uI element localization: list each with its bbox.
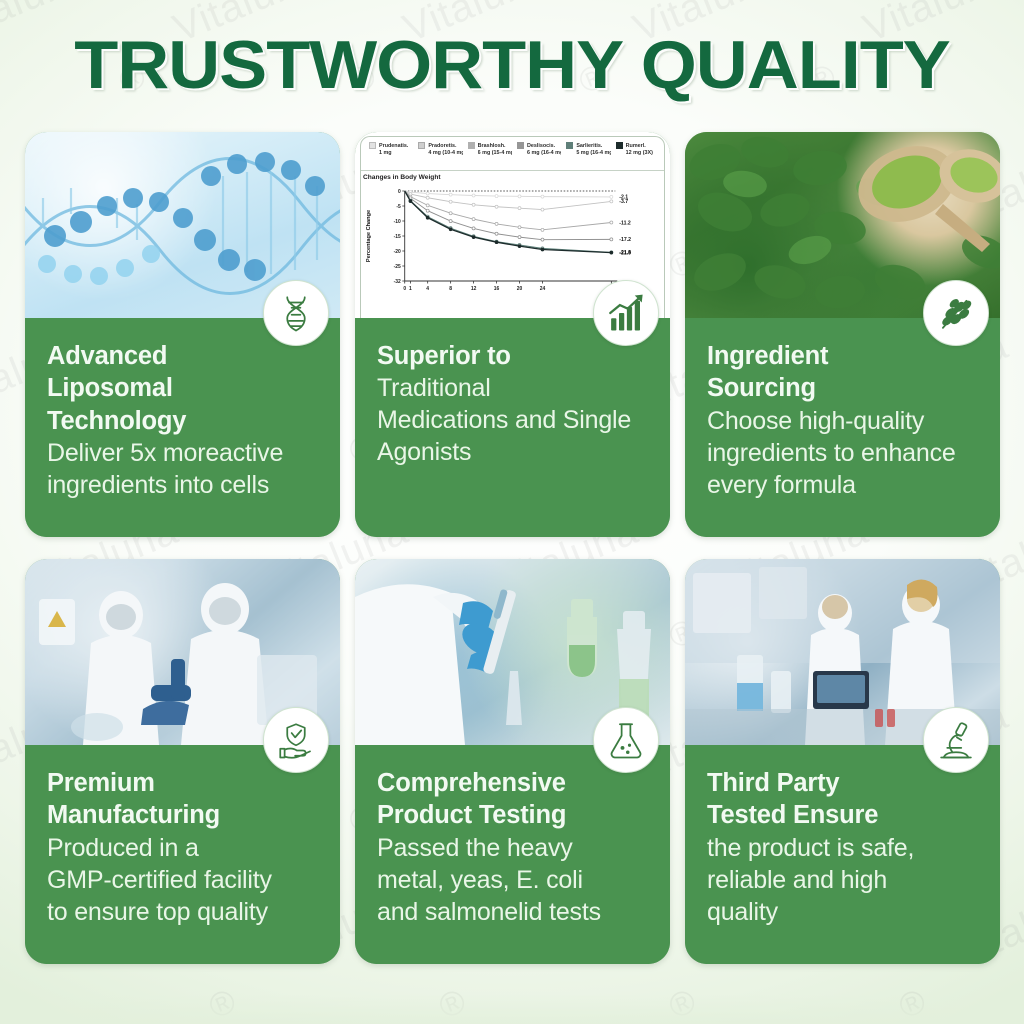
card-text-block: Third Party Tested Ensure the product is…: [685, 745, 1000, 964]
card-headline: Advanced Liposomal Technology: [47, 340, 320, 437]
flask-icon: [605, 719, 647, 761]
chart-legend: Prudenatis. 1 mg Pradoretis. 4 mg (10-4 …: [361, 137, 664, 171]
legend-item: Deslisocis. 6 mg (16-4 mg): [517, 142, 561, 166]
svg-text:12: 12: [471, 286, 477, 292]
legend-item: Pradoretis. 4 mg (10-4 mg): [418, 142, 462, 166]
microscope-icon: [935, 719, 977, 761]
legend-swatch: [369, 142, 376, 149]
card-badge-leaf-branch: [923, 280, 989, 346]
legend-item: Prudenatis. 1 mg: [369, 142, 413, 166]
svg-text:-32: -32: [394, 279, 401, 285]
card-subtext: Produced in a GMP-certified facility to …: [47, 832, 320, 928]
svg-text:-15: -15: [394, 234, 401, 240]
card-text-block: Comprehensive Product Testing Passed the…: [355, 745, 670, 964]
feature-card-third-party-tested[interactable]: Third Party Tested Ensure the product is…: [685, 559, 1000, 964]
card-headline: Premium Manufacturing: [47, 767, 320, 832]
dna-icon: [275, 292, 317, 334]
card-badge-growth-chart: [593, 280, 659, 346]
svg-text:24: 24: [540, 286, 546, 292]
svg-text:-20: -20: [394, 249, 401, 255]
svg-text:20: 20: [517, 286, 523, 292]
card-headline: Superior to: [377, 340, 650, 372]
svg-text:-17.2: -17.2: [619, 237, 631, 243]
card-subtext: Passed the heavy metal, yeas, E. coli an…: [377, 832, 650, 928]
watermark-registered-mark: ®: [664, 982, 703, 1024]
growth-chart-icon: [605, 292, 647, 334]
legend-item: Sarlieritis. 5 mg (16-4 mg): [566, 142, 610, 166]
legend-swatch: [616, 142, 623, 149]
legend-swatch: [468, 142, 475, 149]
card-text-block: Advanced Liposomal Technology Deliver 5x…: [25, 318, 340, 537]
legend-swatch: [566, 142, 573, 149]
svg-text:16: 16: [494, 286, 500, 292]
card-headline: Comprehensive Product Testing: [377, 767, 650, 832]
card-subtext: the product is safe, reliable and high q…: [707, 832, 980, 928]
svg-text:-11.2: -11.2: [619, 220, 631, 226]
legend-item: Rumerl. 12 mg (3X): [616, 142, 660, 166]
svg-text:-3.7: -3.7: [619, 199, 628, 205]
legend-swatch: [517, 142, 524, 149]
svg-text:-21.9: -21.9: [619, 250, 631, 256]
card-headline: Third Party Tested Ensure: [707, 767, 980, 832]
card-badge-microscope: [923, 707, 989, 773]
feature-card-premium-manufacturing[interactable]: Premium Manufacturing Produced in a GMP-…: [25, 559, 340, 964]
card-subtext: Choose high-quality ingredients to enhan…: [707, 405, 980, 501]
svg-text:-5: -5: [396, 204, 401, 210]
card-text-block: Premium Manufacturing Produced in a GMP-…: [25, 745, 340, 964]
card-headline: Ingredient Sourcing: [707, 340, 980, 405]
svg-text:0: 0: [398, 189, 401, 195]
watermark-registered-mark: ®: [894, 982, 933, 1024]
feature-card-advanced-liposomal-technology[interactable]: Advanced Liposomal Technology Deliver 5x…: [25, 132, 340, 537]
hand-shield-check-icon: [275, 719, 317, 761]
svg-text:8: 8: [449, 286, 452, 292]
legend-item: Brashlosh. 6 mg (15-4 mg): [468, 142, 512, 166]
feature-card-superior-to-traditional[interactable]: Prudenatis. 1 mg Pradoretis. 4 mg (10-4 …: [355, 132, 670, 537]
card-badge-dna: [263, 280, 329, 346]
card-text-block: Ingredient Sourcing Choose high-quality …: [685, 318, 1000, 537]
bottom-fade: [0, 994, 1024, 1024]
card-subtext: Deliver 5x moreactive ingredients into c…: [47, 437, 320, 501]
leaf-branch-icon: [935, 292, 977, 334]
page-title: TRUSTWORTHY QUALITY: [74, 26, 949, 104]
svg-text:4: 4: [426, 286, 429, 292]
watermark-registered-mark: ®: [434, 982, 473, 1024]
svg-text:0: 0: [403, 286, 406, 292]
card-text-block: Superior to Traditional Medications and …: [355, 318, 670, 537]
chart-title: Changes in Body Weight: [361, 171, 664, 181]
feature-card-comprehensive-product-testing[interactable]: Comprehensive Product Testing Passed the…: [355, 559, 670, 964]
legend-swatch: [418, 142, 425, 149]
card-badge-hand-shield: [263, 707, 329, 773]
svg-text:1: 1: [409, 286, 412, 292]
svg-text:Percentage Change: Percentage Change: [366, 210, 372, 262]
feature-card-ingredient-sourcing[interactable]: Ingredient Sourcing Choose high-quality …: [685, 132, 1000, 537]
svg-text:-10: -10: [394, 219, 401, 225]
card-subtext: Traditional Medications and Single Agoni…: [377, 372, 650, 468]
watermark-registered-mark: ®: [204, 982, 243, 1024]
page-header: TRUSTWORTHY QUALITY: [0, 26, 1024, 104]
feature-card-grid: Advanced Liposomal Technology Deliver 5x…: [25, 132, 1000, 964]
svg-text:-25: -25: [394, 264, 401, 270]
card-badge-flask: [593, 707, 659, 773]
